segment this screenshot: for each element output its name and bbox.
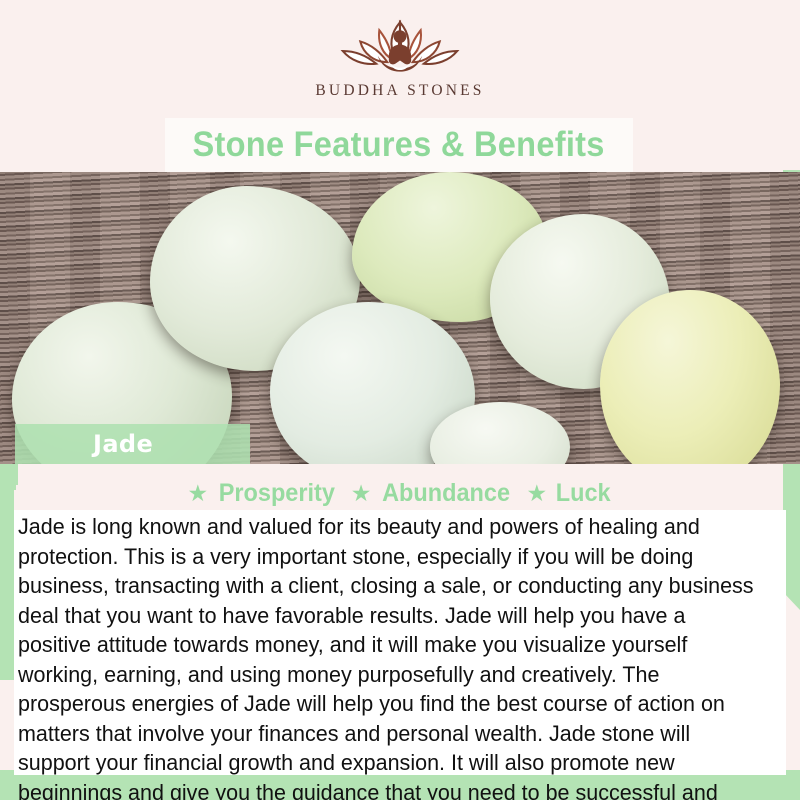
brand-header: BUDDHA STONES — [0, 0, 800, 118]
keyword-item: ★ Prosperity — [187, 479, 338, 508]
stone-name-label: Jade — [15, 424, 250, 464]
description-panel: Jade is long known and valued for its be… — [14, 510, 786, 775]
keyword-item: ★ Luck — [527, 479, 613, 508]
stone-info-poster: BUDDHA STONES Stone Features & Benefits … — [0, 0, 800, 800]
stone-photo — [0, 172, 800, 464]
keyword-label: Luck — [556, 479, 611, 508]
star-icon: ★ — [351, 482, 372, 505]
star-icon: ★ — [527, 482, 548, 505]
star-icon: ★ — [187, 482, 208, 505]
brand-name: BUDDHA STONES — [315, 82, 484, 100]
description-text: Jade is long known and valued for its be… — [18, 512, 757, 800]
title-banner: Stone Features & Benefits — [165, 118, 633, 172]
keyword-label: Abundance — [382, 479, 510, 508]
keyword-item: ★ Abundance — [351, 479, 515, 508]
stone-name-text: Jade — [93, 430, 153, 458]
keyword-label: Prosperity — [219, 479, 335, 508]
keyword-list: ★ Prosperity ★ Abundance ★ Luck — [0, 477, 800, 509]
lotus-meditation-icon — [320, 16, 480, 78]
page-title: Stone Features & Benefits — [193, 125, 605, 165]
